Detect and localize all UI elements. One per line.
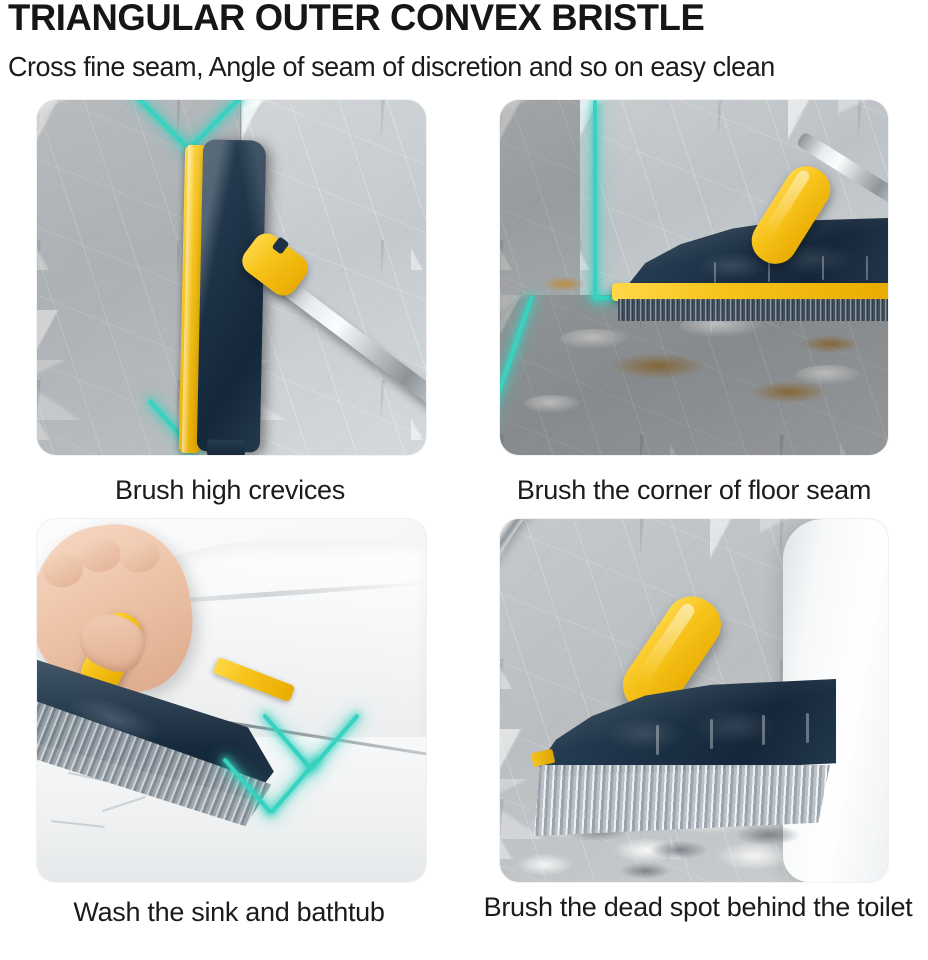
- squeegee-body: [197, 139, 267, 452]
- panel-image-4: [500, 519, 888, 882]
- page-subtitle: Cross fine seam, Angle of seam of discre…: [8, 49, 906, 85]
- panel-caption-4: Brush the dead spot behind the toilet: [478, 890, 918, 924]
- squeegee-tip: [207, 439, 246, 455]
- panel-caption-3: Wash the sink and bathtub: [14, 895, 444, 929]
- product-infographic: TRIANGULAR OUTER CONVEX BRISTLE Cross fi…: [0, 0, 928, 960]
- panel-caption-2: Brush the corner of floor seam: [470, 473, 918, 507]
- panel-image-2: [500, 100, 888, 455]
- scene-floor-corner: [500, 100, 888, 455]
- scene-toilet-dead-spot: [500, 519, 888, 882]
- cyan-seam-vertical: [593, 100, 597, 300]
- bristle-row: [618, 299, 888, 321]
- scene-wall-crevice: [37, 100, 426, 455]
- panel-image-3: [37, 519, 426, 882]
- scene-sink-bathtub: [37, 519, 426, 882]
- panel-caption-1: Brush high crevices: [20, 473, 440, 507]
- panel-image-1: [37, 100, 426, 455]
- page-title: TRIANGULAR OUTER CONVEX BRISTLE: [8, 0, 906, 39]
